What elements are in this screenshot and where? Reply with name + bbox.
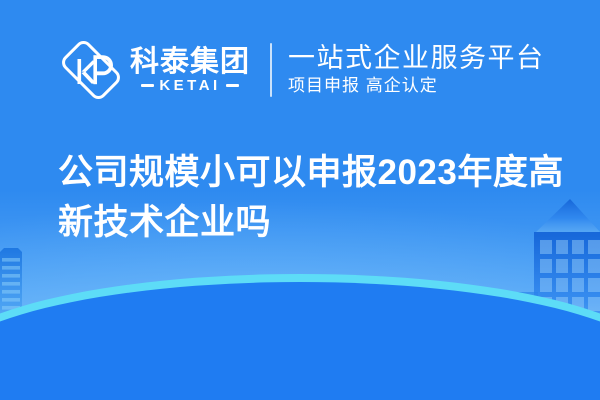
dash-right-decoration — [226, 84, 239, 87]
ground-curve-fill — [0, 282, 600, 400]
promo-banner: 科泰集团 KETAI 一站式企业服务平台 项目申报 高企认定 公司规模小可以申报… — [0, 0, 600, 400]
ketai-kp-monogram-icon — [62, 41, 120, 99]
brand-name-cn: 科泰集团 — [130, 47, 250, 77]
brand-wordmark: 科泰集团 KETAI — [130, 47, 250, 93]
dash-left-decoration — [141, 84, 154, 87]
page-title: 公司规模小可以申报2023年度高新技术企业吗 — [58, 148, 578, 247]
header-tagline: 一站式企业服务平台 项目申报 高企认定 — [288, 43, 545, 96]
brand-name-en-row: KETAI — [130, 78, 250, 93]
header-divider — [270, 43, 272, 97]
banner-header: 科泰集团 KETAI 一站式企业服务平台 项目申报 高企认定 — [0, 0, 600, 140]
ground-curve — [0, 270, 600, 400]
brand-name-en: KETAI — [159, 78, 220, 93]
tagline-main: 一站式企业服务平台 — [288, 43, 545, 74]
brand-logo[interactable]: 科泰集团 KETAI — [62, 41, 250, 99]
tagline-sub: 项目申报 高企认定 — [288, 76, 545, 96]
